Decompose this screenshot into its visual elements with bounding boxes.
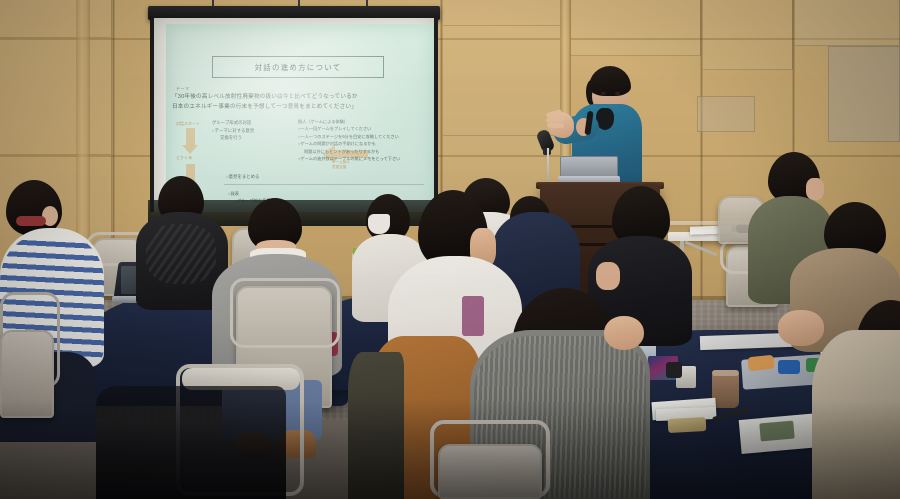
slide-individual-item-1: ○一人一回ゲームをプレイしてください (298, 125, 428, 132)
participant-8-hand (596, 262, 620, 290)
slide-arrow-down (186, 128, 195, 146)
projected-slide: 対話の進め方について テーマ 「30年後の高レベル放射性廃棄物の扱いは今と比べて… (166, 24, 434, 210)
presenter-eye (615, 92, 620, 95)
image-caption: Workshop dialogue session with projected… (0, 494, 900, 499)
wall-panel-trim (697, 96, 755, 132)
chair-foreground-center (438, 444, 542, 499)
participant-10-torso (812, 330, 900, 499)
wall-notice-board (828, 46, 900, 142)
participant-2-sweater-pattern (146, 224, 216, 284)
slide-arrow-label-2: 意見交換 (332, 165, 350, 170)
chair-left-foreground (0, 330, 54, 418)
participant-12-face (806, 178, 824, 200)
wall-panel (443, 26, 561, 136)
slide-individual-heading: 個人（ゲームによる体験） (298, 118, 428, 125)
slide-theme-line-1: 「30年後の高レベル放射性廃棄物の扱いは今と比べてどうなっているか (172, 93, 430, 102)
slide-theme-line-2: 日本のエネルギー事業の行末を予想して一つ意見をまとめてください」 (172, 103, 430, 112)
slide-group-heading: グループ形式の対話 (212, 119, 296, 127)
coffee-cup-rim (712, 370, 739, 376)
chair-center-left-frame (230, 278, 340, 348)
wall-panel (571, 0, 701, 56)
slide-projector-glow (166, 24, 434, 210)
slide-individual-block: 個人（ゲームによる体験） ○一人一回ゲームをプレイしてください ○一人一つのステ… (298, 118, 428, 162)
participant-5-shirt-print (462, 296, 484, 336)
slide-flow-start-label: 対話スタート (176, 120, 206, 127)
slide-divider (224, 184, 424, 185)
slide-final-item-1: ○発表 (228, 190, 270, 197)
slide-title-box: 対話の進め方について (212, 56, 384, 78)
photograph-workshop-room: 対話の進め方について テーマ 「30年後の高レベル放射性廃棄物の扱いは今と比べて… (0, 0, 900, 499)
participant-10-hand (778, 310, 824, 346)
wall-panel (795, 0, 900, 46)
slide-theme-tag: テーマ (176, 86, 190, 92)
slide-flow-step-label: とりくみ (176, 154, 206, 161)
slide-arrow-down-head (182, 145, 198, 154)
booklet-image (759, 421, 794, 442)
paper-coffee-cup (712, 372, 739, 408)
wall-panel (703, 0, 793, 70)
wall-panel (443, 0, 561, 26)
smartphone-on-table (668, 417, 707, 433)
wall-panel (0, 38, 112, 155)
dark-object-on-table (666, 362, 682, 378)
participant-9-hand (604, 316, 644, 350)
slide-summary-item: ○意見をまとめる (226, 174, 259, 180)
participant-1-collar (16, 216, 46, 226)
presenter-finger (547, 123, 564, 129)
slide-individual-item-5: ○ゲームの進捗数はテーブルの紙にメモをとって下さい (298, 155, 428, 162)
podium-laptop-lid (560, 156, 618, 178)
slide-individual-item-4: 問題以外にもヒントがあったりするかも (298, 148, 428, 155)
slide-group-item-2: 交換を行う (212, 134, 296, 142)
slide-group-item-1: ○テーマに対する意見 (212, 127, 296, 135)
snack-orange (747, 355, 774, 372)
participant-13-side-bag (348, 352, 404, 499)
foreground-shadow-mass (96, 386, 286, 499)
participant-4-face-mask (368, 214, 390, 234)
slide-title: 対話の進め方について (255, 62, 342, 73)
slide-group-block: グループ形式の対話 ○テーマに対する意見 交換を行う (212, 119, 296, 142)
wall-panel (0, 0, 112, 38)
presenter-eye (601, 92, 606, 95)
slide-individual-item-3: ○ゲームの問題が対話の手助けになるかも (298, 140, 428, 147)
slide-individual-item-2: ○一人一つのステージを5分を目安に攻略してください (298, 133, 428, 140)
snack-blue-packet (778, 360, 800, 374)
